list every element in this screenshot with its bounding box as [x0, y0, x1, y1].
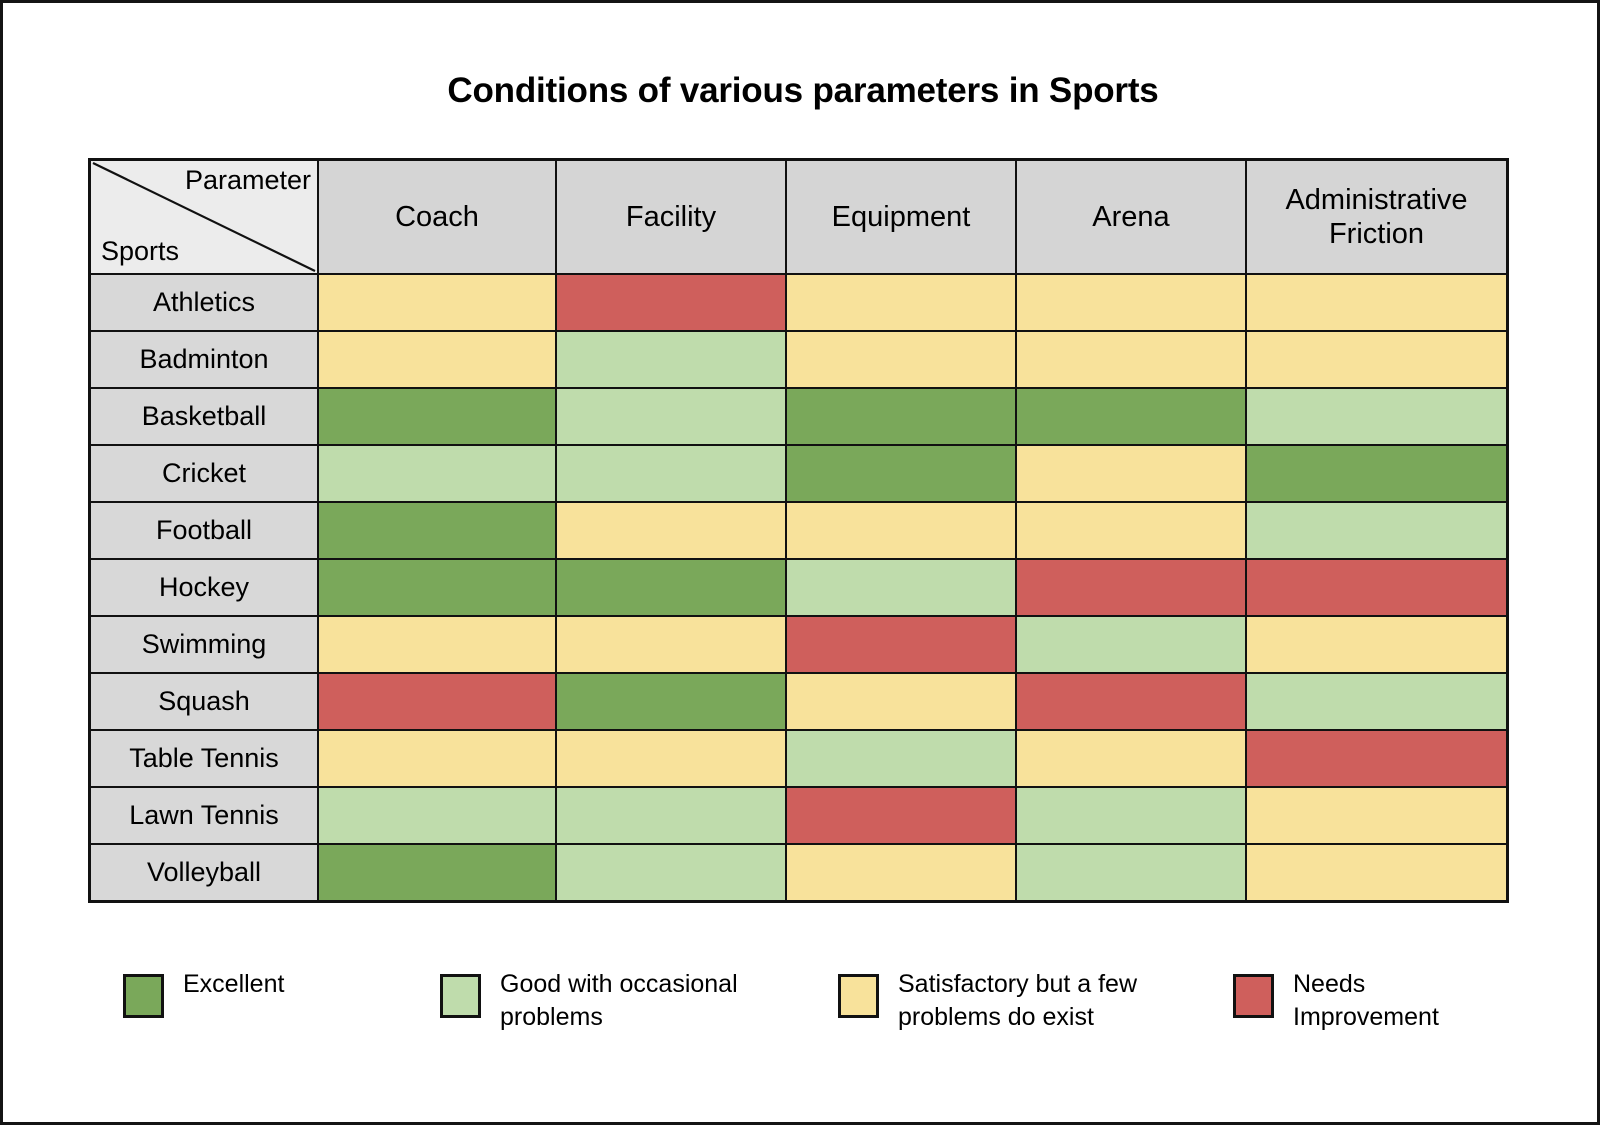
matrix-cell[interactable] [1016, 388, 1246, 445]
matrix-cell[interactable] [786, 616, 1016, 673]
row-header-swimming[interactable]: Swimming [90, 616, 319, 673]
row-header-athletics[interactable]: Athletics [90, 274, 319, 331]
row-header-volleyball[interactable]: Volleyball [90, 844, 319, 902]
table-row: Cricket [90, 445, 1508, 502]
matrix-cell[interactable] [556, 616, 786, 673]
table-row: Football [90, 502, 1508, 559]
table-row: Basketball [90, 388, 1508, 445]
matrix-cell[interactable] [1016, 502, 1246, 559]
legend-label-satisfactory: Satisfactory but a few problems do exist [898, 968, 1137, 1033]
matrix-cell[interactable] [1016, 331, 1246, 388]
matrix-cell[interactable] [1016, 559, 1246, 616]
matrix-cell[interactable] [786, 331, 1016, 388]
matrix-cell[interactable] [556, 673, 786, 730]
corner-column-axis-label: Parameter [185, 167, 311, 194]
matrix-cell[interactable] [786, 274, 1016, 331]
legend-label-good: Good with occasional problems [500, 968, 738, 1033]
matrix-cell[interactable] [1016, 787, 1246, 844]
matrix-cell[interactable] [1246, 331, 1508, 388]
matrix-cell[interactable] [786, 730, 1016, 787]
matrix-cell[interactable] [318, 502, 556, 559]
matrix-cell[interactable] [1246, 787, 1508, 844]
legend-swatch-excellent [123, 974, 164, 1018]
chart-canvas: Conditions of various parameters in Spor… [0, 0, 1600, 1125]
matrix-cell[interactable] [318, 616, 556, 673]
table-row: Swimming [90, 616, 1508, 673]
table-row: Lawn Tennis [90, 787, 1508, 844]
matrix-cell[interactable] [318, 274, 556, 331]
table-row: Squash [90, 673, 1508, 730]
row-header-badminton[interactable]: Badminton [90, 331, 319, 388]
column-header-arena[interactable]: Arena [1016, 160, 1246, 275]
matrix-cell[interactable] [318, 331, 556, 388]
page-title: Conditions of various parameters in Spor… [3, 71, 1600, 111]
table-row: Table Tennis [90, 730, 1508, 787]
matrix-cell[interactable] [1246, 673, 1508, 730]
table-row: Hockey [90, 559, 1508, 616]
column-header-equipment[interactable]: Equipment [786, 160, 1016, 275]
matrix-cell[interactable] [556, 274, 786, 331]
row-header-hockey[interactable]: Hockey [90, 559, 319, 616]
matrix-cell[interactable] [786, 502, 1016, 559]
matrix-cell[interactable] [786, 559, 1016, 616]
column-header-coach[interactable]: Coach [318, 160, 556, 275]
legend-label-excellent: Excellent [183, 968, 284, 1001]
legend: Excellent Good with occasional problems … [123, 968, 1503, 1078]
matrix-cell[interactable] [556, 388, 786, 445]
matrix-cell[interactable] [1016, 844, 1246, 902]
legend-item-good[interactable]: Good with occasional problems [440, 968, 738, 1033]
matrix-body: AthleticsBadmintonBasketballCricketFootb… [90, 274, 1508, 902]
matrix-cell[interactable] [556, 559, 786, 616]
matrix-cell[interactable] [556, 787, 786, 844]
matrix-cell[interactable] [556, 331, 786, 388]
matrix-cell[interactable] [786, 673, 1016, 730]
matrix-cell[interactable] [318, 388, 556, 445]
matrix-cell[interactable] [786, 445, 1016, 502]
matrix-cell[interactable] [556, 445, 786, 502]
legend-item-excellent[interactable]: Excellent [123, 968, 284, 1018]
matrix-corner-cell: Parameter Sports [90, 160, 319, 275]
legend-label-needs-improvement: Needs Improvement [1293, 968, 1439, 1033]
matrix-cell[interactable] [318, 844, 556, 902]
matrix-cell[interactable] [1016, 445, 1246, 502]
matrix-cell[interactable] [1246, 844, 1508, 902]
column-header-administrative-friction[interactable]: Administrative Friction [1246, 160, 1508, 275]
row-header-football[interactable]: Football [90, 502, 319, 559]
matrix-cell[interactable] [1246, 274, 1508, 331]
matrix-cell[interactable] [1246, 388, 1508, 445]
column-header-facility[interactable]: Facility [556, 160, 786, 275]
legend-swatch-needs-improvement [1233, 974, 1274, 1018]
row-header-table-tennis[interactable]: Table Tennis [90, 730, 319, 787]
matrix-cell[interactable] [1016, 616, 1246, 673]
row-header-cricket[interactable]: Cricket [90, 445, 319, 502]
legend-item-satisfactory[interactable]: Satisfactory but a few problems do exist [838, 968, 1137, 1033]
row-header-basketball[interactable]: Basketball [90, 388, 319, 445]
row-header-squash[interactable]: Squash [90, 673, 319, 730]
matrix-cell[interactable] [1246, 559, 1508, 616]
matrix-cell[interactable] [318, 730, 556, 787]
matrix-header: Parameter Sports Coach Facility Equipmen… [90, 160, 1508, 275]
matrix-cell[interactable] [1016, 274, 1246, 331]
matrix-cell[interactable] [318, 787, 556, 844]
matrix-cell[interactable] [1016, 673, 1246, 730]
legend-item-needs-improvement[interactable]: Needs Improvement [1233, 968, 1439, 1033]
matrix-cell[interactable] [556, 502, 786, 559]
matrix-cell[interactable] [1246, 445, 1508, 502]
matrix-cell[interactable] [318, 559, 556, 616]
matrix-cell[interactable] [1246, 502, 1508, 559]
corner-row-axis-label: Sports [101, 238, 179, 265]
matrix-cell[interactable] [786, 844, 1016, 902]
matrix-cell[interactable] [556, 730, 786, 787]
table-row: Badminton [90, 331, 1508, 388]
matrix-cell[interactable] [556, 844, 786, 902]
matrix-cell[interactable] [1246, 616, 1508, 673]
matrix-cell[interactable] [1246, 730, 1508, 787]
matrix-cell[interactable] [318, 673, 556, 730]
legend-swatch-good [440, 974, 481, 1018]
legend-swatch-satisfactory [838, 974, 879, 1018]
table-row: Athletics [90, 274, 1508, 331]
matrix-cell[interactable] [786, 388, 1016, 445]
matrix-header-row: Parameter Sports Coach Facility Equipmen… [90, 160, 1508, 275]
matrix-cell[interactable] [786, 787, 1016, 844]
conditions-matrix: Parameter Sports Coach Facility Equipmen… [88, 158, 1509, 903]
row-header-lawn-tennis[interactable]: Lawn Tennis [90, 787, 319, 844]
matrix-cell[interactable] [1016, 730, 1246, 787]
table-row: Volleyball [90, 844, 1508, 902]
matrix-cell[interactable] [318, 445, 556, 502]
